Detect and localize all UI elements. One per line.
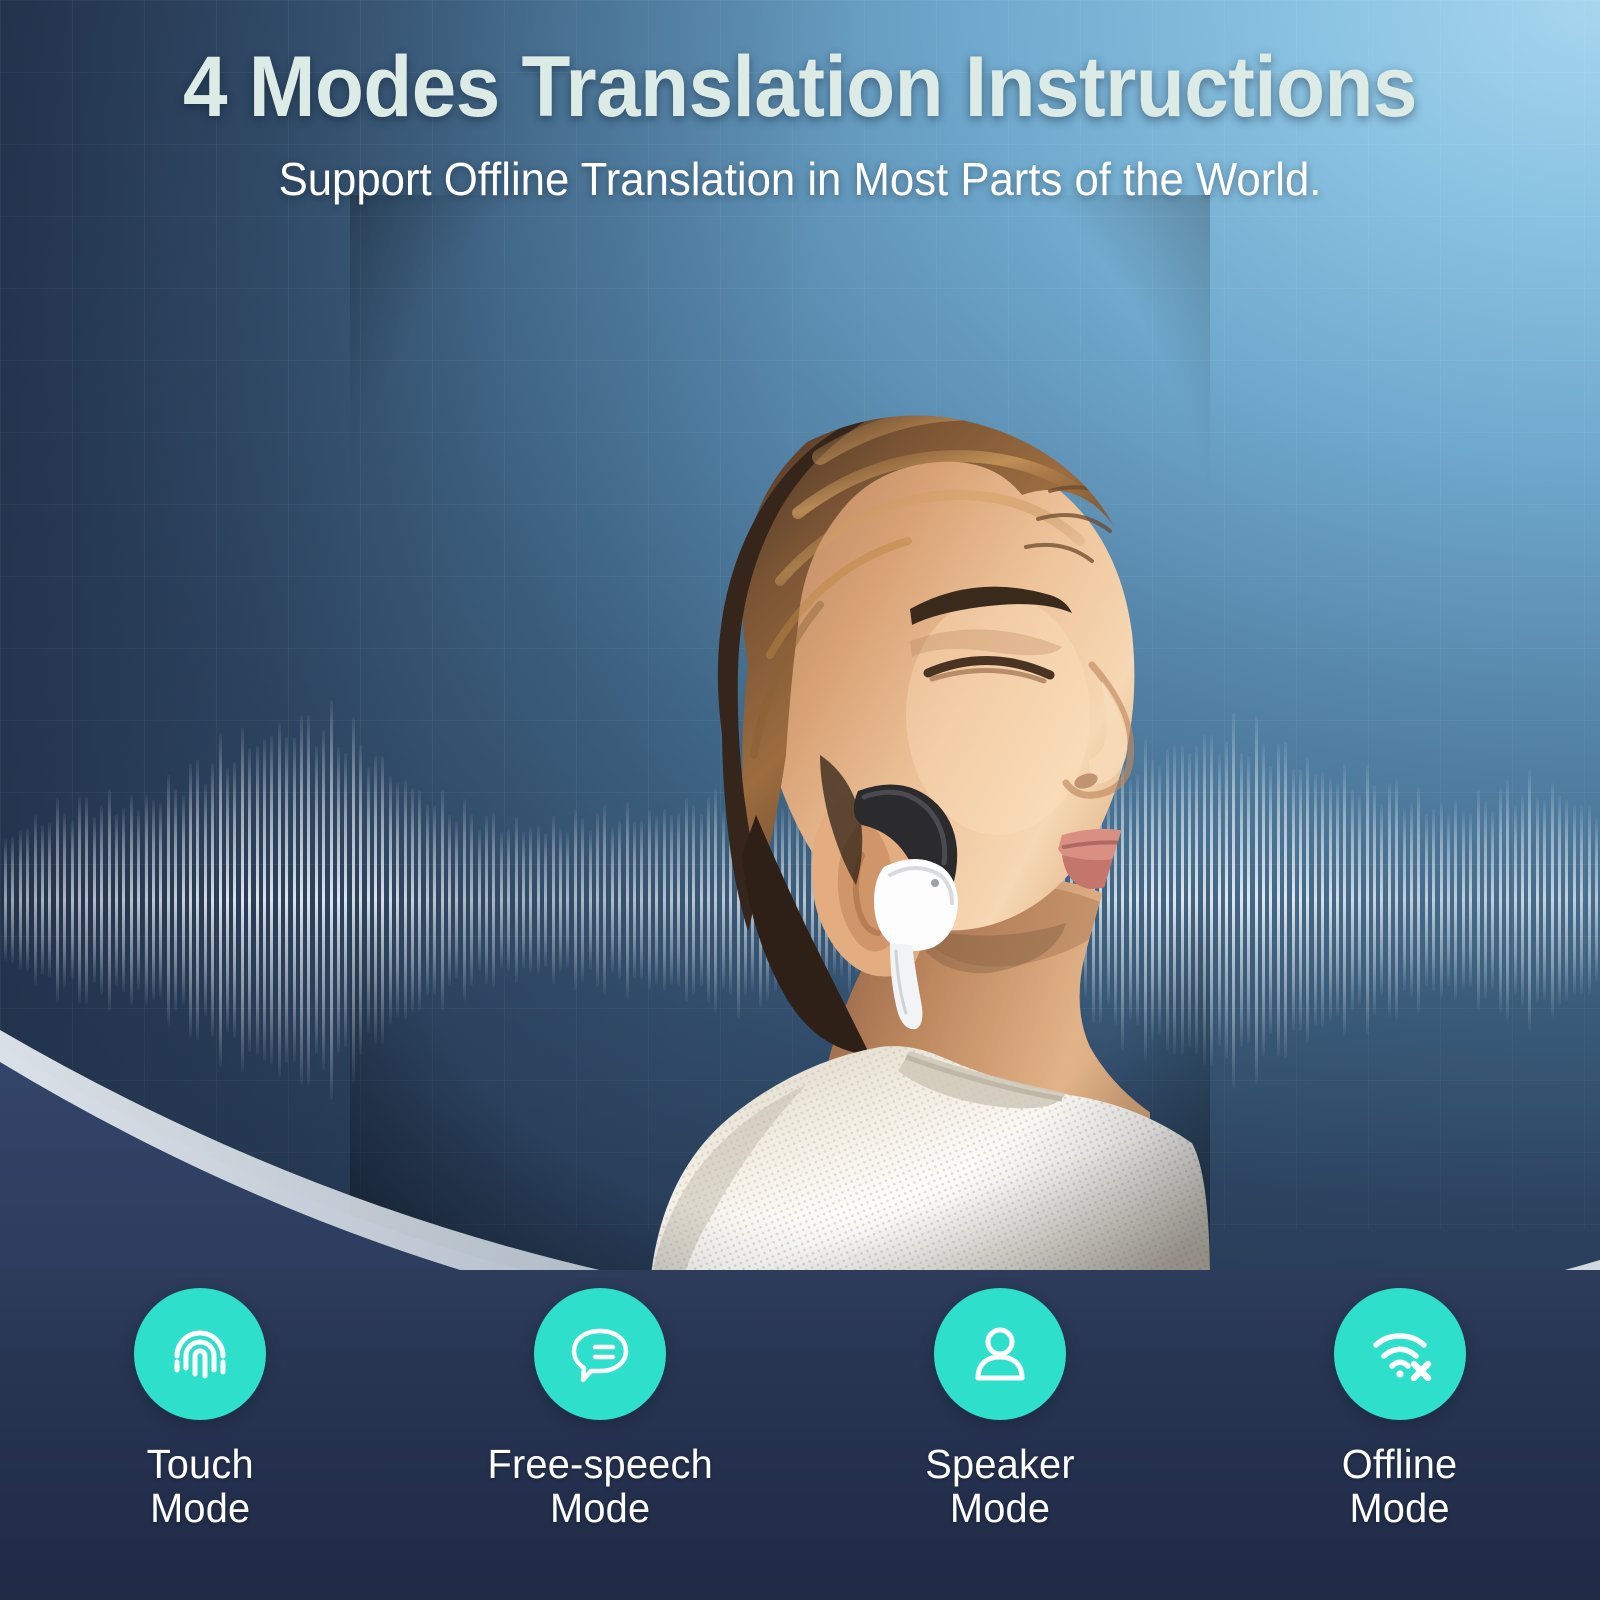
mode-label-line2: Mode [150, 1485, 250, 1531]
mode-icon-circle-free-speech[interactable] [534, 1288, 666, 1420]
mode-icon-circle-offline[interactable] [1334, 1288, 1466, 1420]
page-subtitle: Support Offline Translation in Most Part… [40, 156, 1560, 202]
mode-label-line1: Offline [1342, 1441, 1458, 1487]
mode-label-line2: Mode [950, 1485, 1050, 1531]
mode-label-line1: Touch [146, 1441, 253, 1487]
mode-item-offline[interactable]: Offline Mode [1200, 1270, 1600, 1600]
mode-label-touch: Touch Mode [146, 1442, 253, 1531]
promo-banner: 4 Modes Translation Instructions Support… [0, 0, 1600, 1600]
page-title: 4 Modes Translation Instructions [56, 44, 1544, 130]
hero-photo-man-wearing-earbud [350, 195, 1210, 1285]
modes-row: Touch Mode Free-speech Mode [0, 1270, 1600, 1600]
mode-label-line2: Mode [1350, 1485, 1450, 1531]
mode-label-line1: Speaker [925, 1441, 1074, 1487]
fingerprint-icon [164, 1318, 236, 1390]
mode-label-line1: Free-speech [487, 1441, 712, 1487]
mode-item-free-speech[interactable]: Free-speech Mode [400, 1270, 800, 1600]
mode-item-speaker[interactable]: Speaker Mode [800, 1270, 1200, 1600]
header-block: 4 Modes Translation Instructions Support… [0, 0, 1600, 202]
mode-label-free-speech: Free-speech Mode [487, 1442, 712, 1531]
person-icon [965, 1319, 1035, 1389]
mode-label-line2: Mode [550, 1485, 650, 1531]
mode-label-speaker: Speaker Mode [925, 1442, 1074, 1531]
mode-label-offline: Offline Mode [1342, 1442, 1458, 1531]
speech-bubble-icon [563, 1317, 637, 1391]
wifi-off-icon [1362, 1316, 1438, 1392]
mode-icon-circle-touch[interactable] [134, 1288, 266, 1420]
mode-icon-circle-speaker[interactable] [934, 1288, 1066, 1420]
mode-item-touch[interactable]: Touch Mode [0, 1270, 400, 1600]
